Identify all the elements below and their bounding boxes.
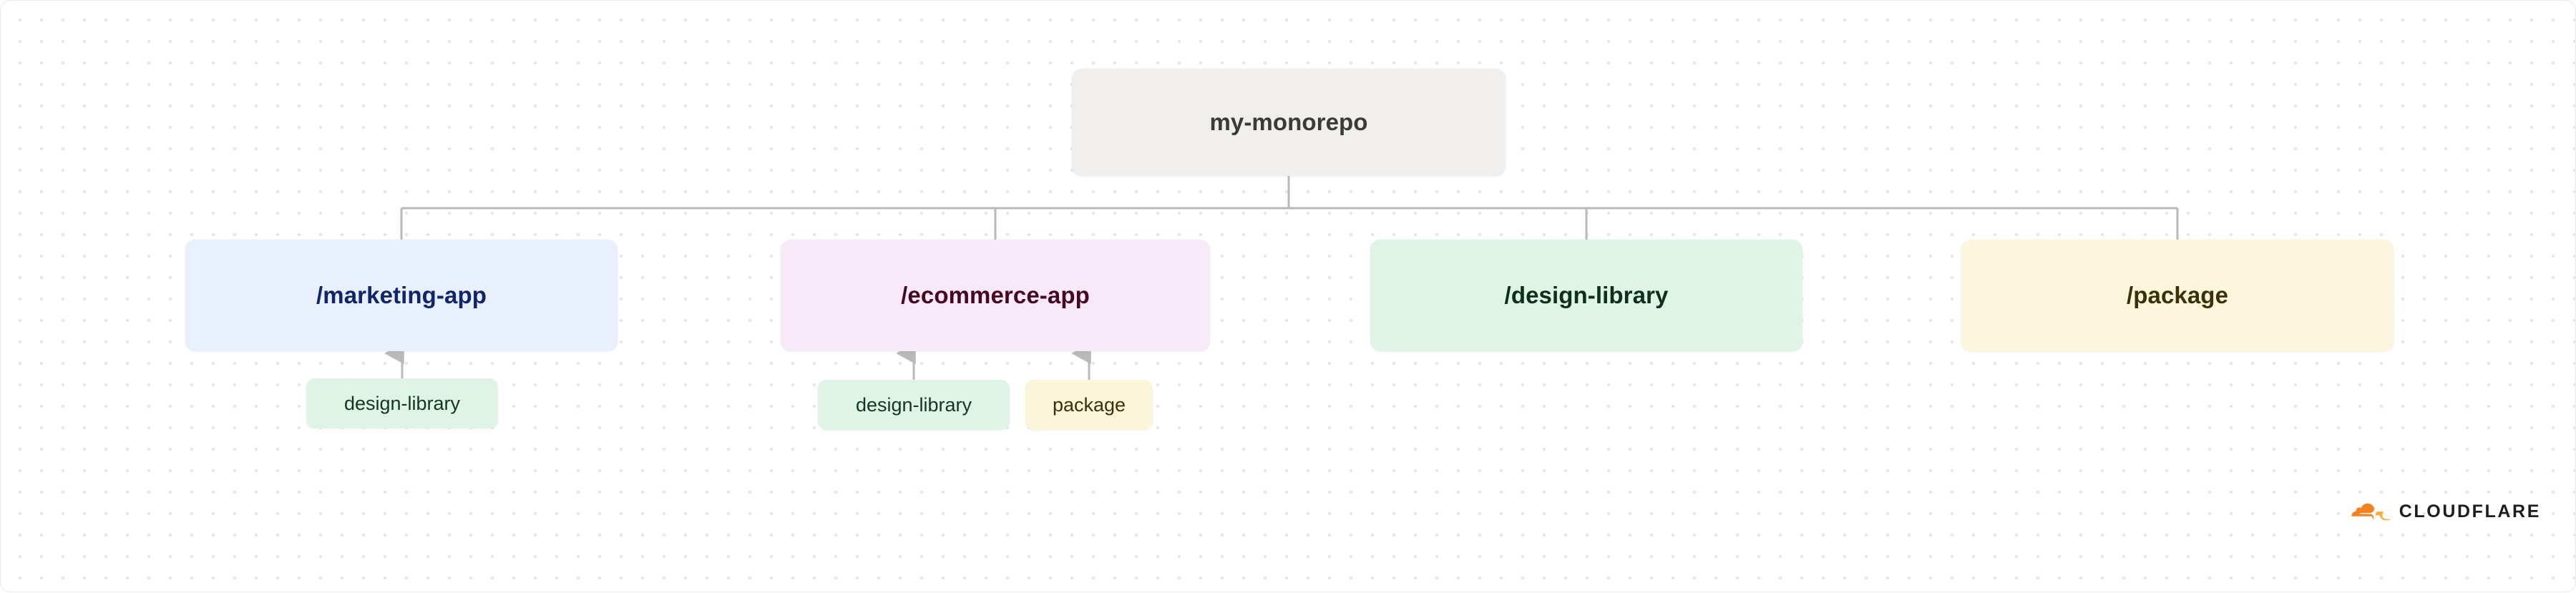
dependency-chip-ecommerce-design-library[interactable]: design-library — [818, 380, 1010, 430]
node-design-library[interactable]: /design-library — [1370, 240, 1802, 351]
node-label-my-monorepo: my-monorepo — [1209, 109, 1367, 136]
dependency-chip-marketing-design-library[interactable]: design-library — [306, 378, 498, 428]
cloudflare-logo: CLOUDFLARE — [2346, 491, 2541, 531]
node-my-monorepo[interactable]: my-monorepo — [1072, 69, 1506, 176]
dependency-chip-ecommerce-package[interactable]: package — [1025, 380, 1153, 430]
node-marketing-app[interactable]: /marketing-app — [185, 240, 618, 351]
cloudflare-wordmark: CLOUDFLARE — [2399, 503, 2541, 521]
node-label-package: /package — [2127, 282, 2228, 309]
node-label-ecommerce-app: /ecommerce-app — [901, 282, 1090, 309]
cloudflare-cloud-icon — [2346, 497, 2391, 526]
dependency-chip-label: package — [1053, 394, 1126, 416]
node-ecommerce-app[interactable]: /ecommerce-app — [781, 240, 1210, 351]
node-package[interactable]: /package — [1961, 240, 2394, 351]
dependency-chip-label: design-library — [344, 393, 460, 415]
node-label-marketing-app: /marketing-app — [316, 282, 487, 309]
node-label-design-library: /design-library — [1505, 282, 1669, 309]
dependency-chip-label: design-library — [856, 394, 972, 416]
diagram-canvas[interactable]: my-monorepo /marketing-app /ecommerce-ap… — [0, 0, 2576, 592]
